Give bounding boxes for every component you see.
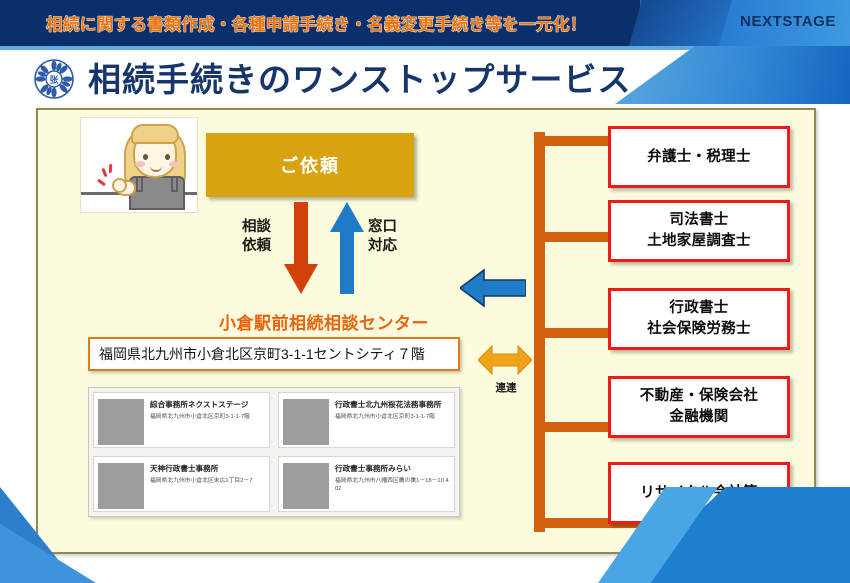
consultation-label-line2: 依頼 [242, 237, 271, 256]
office-card[interactable]: 行政書士北九州桜花法務事務所 福岡県北九州市小倉北区京町3-1-1-7階 [278, 392, 455, 448]
illustration-spark-3 [97, 179, 106, 187]
office-name: 行政書士北九州桜花法務事務所 [335, 399, 450, 410]
illustration-spark-2 [109, 164, 113, 173]
center-name-heading: 小倉駅前相続相談センター [174, 309, 474, 334]
request-box: ご依頼 [206, 133, 414, 197]
illustration-strap-left [136, 176, 143, 192]
office-card[interactable]: 天神行政書士事務所 福岡県北九州市小倉北区末広1丁目2－7 [93, 456, 270, 512]
window-response-arrow-up [330, 202, 364, 294]
office-thumbnail-image [283, 399, 329, 445]
consultation-label-line1: 相談 [242, 218, 271, 237]
office-card-grid: 綜合事務所ネクストステージ 福岡県北九州市小倉北区京町3-1-1-7階 行政書士… [88, 387, 460, 517]
partner-box-label: 司法書士土地家屋調査士 [647, 210, 751, 252]
title-swoosh-decoration [615, 46, 850, 104]
office-card-text: 天神行政書士事務所 福岡県北九州市小倉北区末広1丁目2－7 [148, 457, 269, 511]
slide-root: 相続に関する書類作成・各種申請手続き・名義変更手続き等を一元化！ NEXTSTA… [0, 0, 850, 583]
illustration-blush-right [169, 161, 179, 167]
illustration-strap-right [171, 176, 178, 192]
top-banner: 相続に関する書類作成・各種申請手続き・名義変更手続き等を一元化！ NEXTSTA… [0, 0, 850, 46]
request-box-label: ご依頼 [280, 152, 340, 178]
consultation-request-label: 相談 依頼 [242, 218, 271, 256]
page-title: 相続手続きのワンストップサービス [88, 53, 631, 101]
cooperation-double-arrow [478, 342, 532, 378]
illustration-spark-1 [101, 168, 107, 177]
banner-headline: 相続に関する書類作成・各種申請手続き・名義変更手続き等を一元化！ [46, 11, 587, 35]
office-card-text: 行政書士北九州桜花法務事務所 福岡県北九州市小倉北区京町3-1-1-7階 [333, 393, 454, 447]
office-thumbnail-image [98, 399, 144, 445]
window-response-label: 窓口 対応 [368, 218, 397, 256]
partner-to-request-arrow-left [460, 268, 526, 308]
partner-box-label: 弁護士・税理士 [647, 147, 751, 168]
office-address: 福岡県北九州市小倉北区京町3-1-1-7階 [335, 413, 450, 421]
office-thumbnail-image [98, 463, 144, 509]
partner-box-administrative-scrivener[interactable]: 行政書士社会保険労務士 [608, 288, 790, 350]
illustration-fist [112, 178, 127, 193]
partner-box-label: 不動産・保険会社金融機関 [640, 386, 758, 428]
cooperation-label: 連連 [483, 380, 529, 395]
illustration-blush-left [135, 161, 145, 167]
illustration-fringe [131, 124, 179, 144]
consultation-request-arrow-down [284, 202, 318, 294]
office-card-text: 綜合事務所ネクストステージ 福岡県北九州市小倉北区京町3-1-1-7階 [148, 393, 269, 447]
office-thumbnail-image [283, 463, 329, 509]
office-name: 天神行政書士事務所 [150, 463, 265, 474]
office-card[interactable]: 綜合事務所ネクストステージ 福岡県北九州市小倉北区京町3-1-1-7階 [93, 392, 270, 448]
office-name: 綜合事務所ネクストステージ [150, 399, 265, 410]
office-card-text: 行政書士事務所みらい 福岡県北九州市八幡西区鷹の巣1－18－10 402 [333, 457, 454, 511]
chrysanthemum-logo-icon: 张 [32, 59, 76, 99]
illustration-eye-right [165, 154, 170, 160]
partner-box-lawyer-tax[interactable]: 弁護士・税理士 [608, 126, 790, 188]
illustration-eye-left [143, 154, 148, 160]
brand-logo-text: NEXTSTAGE [740, 13, 836, 30]
office-name: 行政書士事務所みらい [335, 463, 450, 474]
partner-box-label: 行政書士社会保険労務士 [647, 298, 751, 340]
customer-illustration [80, 117, 198, 213]
center-address-text: 福岡県北九州市小倉北区京町3-1-1セントシティ７階 [90, 344, 425, 364]
window-label-line2: 対応 [368, 237, 397, 256]
office-address: 福岡県北九州市小倉北区京町3-1-1-7階 [150, 413, 265, 421]
title-band: 张 相続手続きのワンストップサービス [0, 50, 850, 104]
center-address-box: 福岡県北九州市小倉北区京町3-1-1セントシティ７階 [88, 337, 460, 371]
office-card[interactable]: 行政書士事務所みらい 福岡県北九州市八幡西区鷹の巣1－18－10 402 [278, 456, 455, 512]
partner-box-realestate-insurance[interactable]: 不動産・保険会社金融機関 [608, 376, 790, 438]
office-address: 福岡県北九州市八幡西区鷹の巣1－18－10 402 [335, 477, 450, 493]
banner-blue-accent [629, 0, 732, 46]
window-label-line1: 窓口 [368, 218, 397, 237]
partner-box-judicial-scrivener[interactable]: 司法書士土地家屋調査士 [608, 200, 790, 262]
svg-text:张: 张 [49, 74, 59, 85]
office-address: 福岡県北九州市小倉北区末広1丁目2－7 [150, 477, 265, 485]
